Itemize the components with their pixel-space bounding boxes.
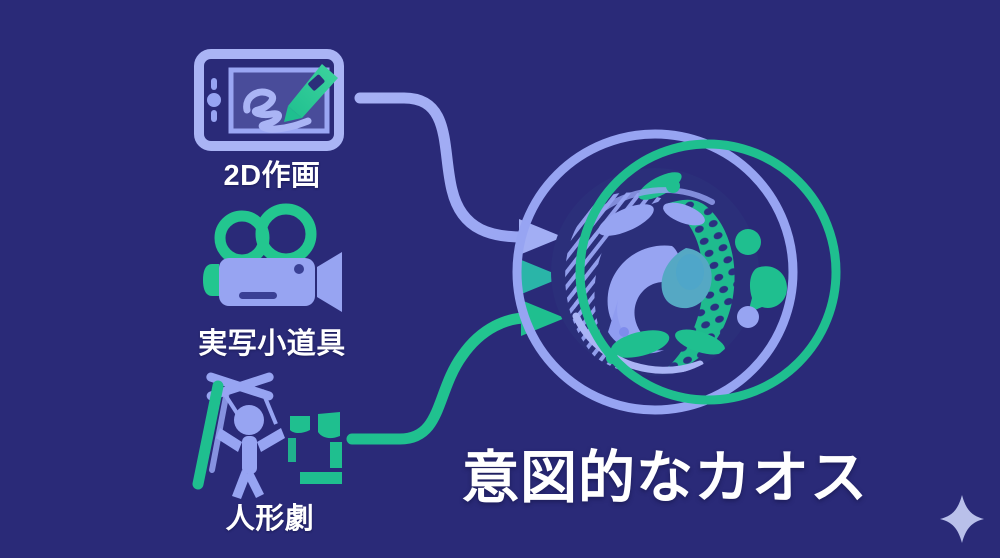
node-label-2d-drawing: 2D作画 bbox=[223, 152, 320, 194]
camera-body-stripe bbox=[239, 292, 277, 299]
tablet-button-round bbox=[207, 93, 221, 107]
puppet-torso bbox=[242, 436, 257, 474]
chaos-accent-dot-green-top bbox=[735, 229, 761, 255]
page-title: 意図的なカオス bbox=[462, 432, 868, 514]
slide-canvas: 2D作画 実写小道具 人形劇 意図的なカオス bbox=[0, 0, 1000, 558]
swirl-dot-top bbox=[666, 179, 680, 193]
camera-side-nub bbox=[203, 264, 219, 296]
chaos-accent-dot-periwinkle bbox=[737, 306, 759, 328]
camera-lens-dot bbox=[294, 264, 304, 274]
tablet-button-top bbox=[211, 78, 217, 90]
puppet-head bbox=[234, 405, 264, 435]
tablet-button-bottom bbox=[211, 110, 217, 122]
node-label-puppet-theater: 人形劇 bbox=[226, 495, 315, 537]
node-label-live-action-props: 実写小道具 bbox=[198, 320, 346, 362]
